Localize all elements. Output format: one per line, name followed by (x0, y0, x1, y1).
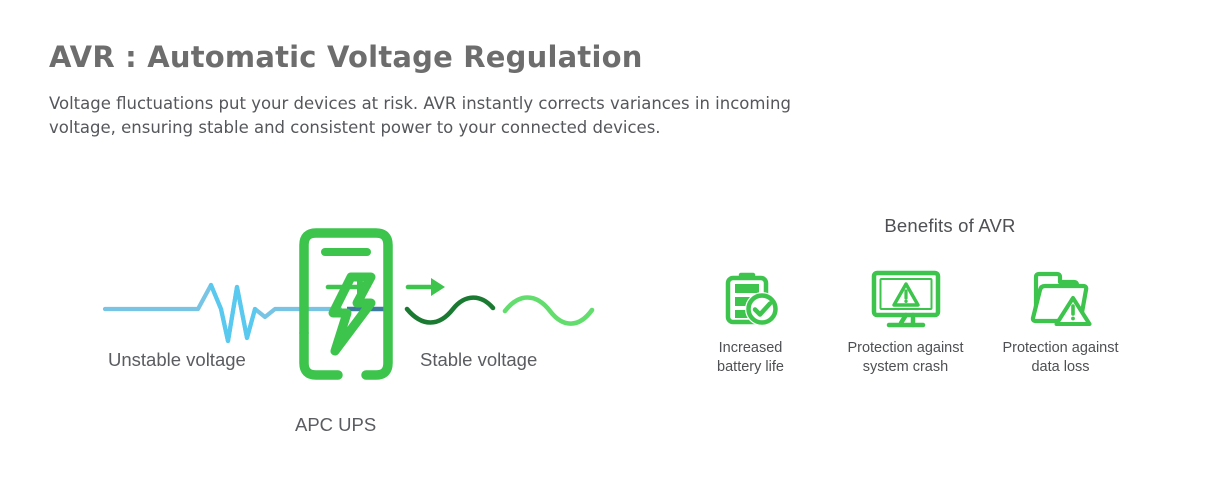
benefits-section: Benefits of AVR (665, 215, 1175, 377)
monitor-warning-icon (868, 266, 944, 332)
benefit-label: Increased battery life (717, 339, 784, 377)
avr-flow-diagram: Unstable voltage Stable voltage APC UPS (95, 215, 605, 440)
flow-diagram-graphic (95, 215, 605, 415)
stable-voltage-label: Stable voltage (420, 349, 537, 371)
battery-check-icon (720, 266, 782, 332)
benefit-label: Protection against system crash (847, 339, 963, 377)
arrow-right-icon (408, 278, 445, 296)
benefit-item: Increased battery life (673, 266, 828, 377)
ups-device-icon (304, 233, 388, 375)
page-title: AVR : Automatic Voltage Regulation (49, 40, 949, 75)
benefits-title: Benefits of AVR (665, 215, 1175, 237)
benefit-item: Protection against data loss (983, 266, 1138, 377)
folder-warning-icon (1026, 266, 1096, 332)
page-header: AVR : Automatic Voltage Regulation Volta… (49, 40, 949, 140)
benefit-label: Protection against data loss (1002, 339, 1118, 377)
page-subtitle: Voltage fluctuations put your devices at… (49, 92, 839, 140)
benefits-list: Increased battery life (665, 266, 1175, 377)
benefit-item: Protection against system crash (828, 266, 983, 377)
apc-ups-label: APC UPS (295, 414, 376, 436)
unstable-voltage-label: Unstable voltage (108, 349, 246, 371)
stable-sine-wave-icon (407, 298, 592, 324)
